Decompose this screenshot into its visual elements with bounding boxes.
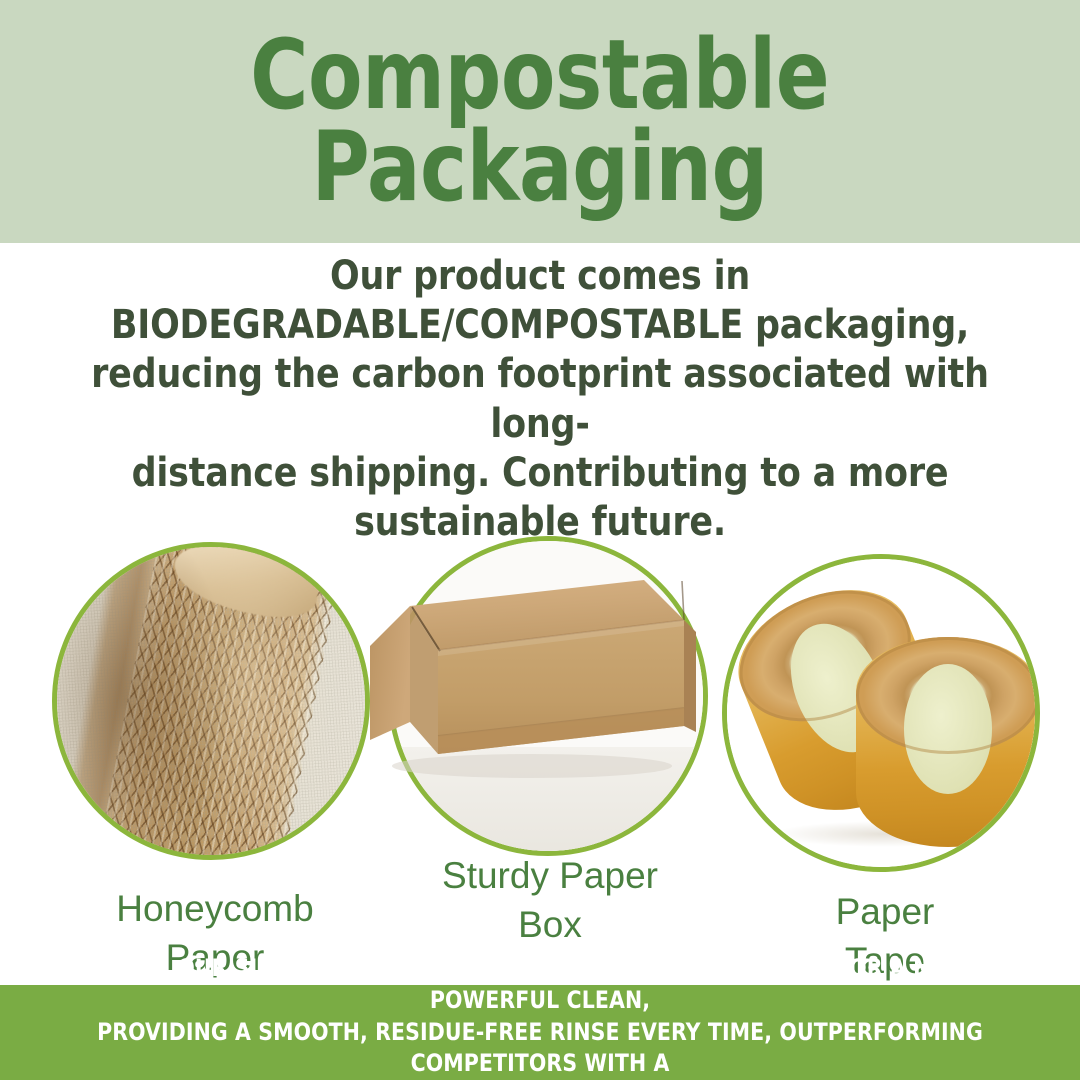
body-line-3: reducing the carbon footprint associated… [65, 350, 1016, 448]
tape-roll-front [856, 637, 1040, 847]
caption-box-line-2: Box [395, 901, 705, 950]
product-circle-paper-tape [722, 554, 1040, 872]
caption-honeycomb-line-1: Honeycomb [60, 885, 370, 934]
body-line-2: BIODEGRADABLE/COMPOSTABLE packaging, [65, 301, 1016, 350]
note-line-1: NOTE: OUR SUSTAINABLE TABLETS SKIPS THIC… [48, 953, 1032, 1016]
note-text: NOTE: OUR SUSTAINABLE TABLETS SKIPS THIC… [48, 953, 1032, 1080]
page-title: Compostable Packaging [250, 30, 829, 212]
honeycomb-paper-image [52, 542, 370, 860]
tape-roll-front-edge [856, 637, 1040, 755]
header-band: Compostable Packaging [0, 0, 1080, 243]
page-title-line-2: Packaging [250, 122, 829, 213]
caption-box-line-1: Sturdy Paper [395, 852, 705, 901]
body-paragraph: Our product comes in BIODEGRADABLE/COMPO… [65, 252, 1016, 547]
note-line-2: PROVIDING A SMOOTH, RESIDUE-FREE RINSE E… [48, 1017, 1032, 1080]
body-line-1: Our product comes in [65, 252, 1016, 301]
caption-sturdy-paper-box: Sturdy Paper Box [395, 852, 705, 950]
page-title-line-1: Compostable [250, 30, 829, 121]
product-circle-honeycomb-paper [52, 542, 370, 860]
paper-tape-image [722, 554, 1040, 872]
body-line-4: distance shipping. Contributing to a mor… [65, 449, 1016, 498]
infographic-poster: Compostable Packaging Our product comes … [0, 0, 1080, 1080]
caption-tape-line-1: Paper [730, 888, 1040, 937]
note-banner: NOTE: OUR SUSTAINABLE TABLETS SKIPS THIC… [0, 985, 1080, 1080]
product-circle-row [0, 528, 1080, 888]
kraft-box-illustration [352, 554, 702, 784]
honeycomb-shading [52, 542, 370, 860]
